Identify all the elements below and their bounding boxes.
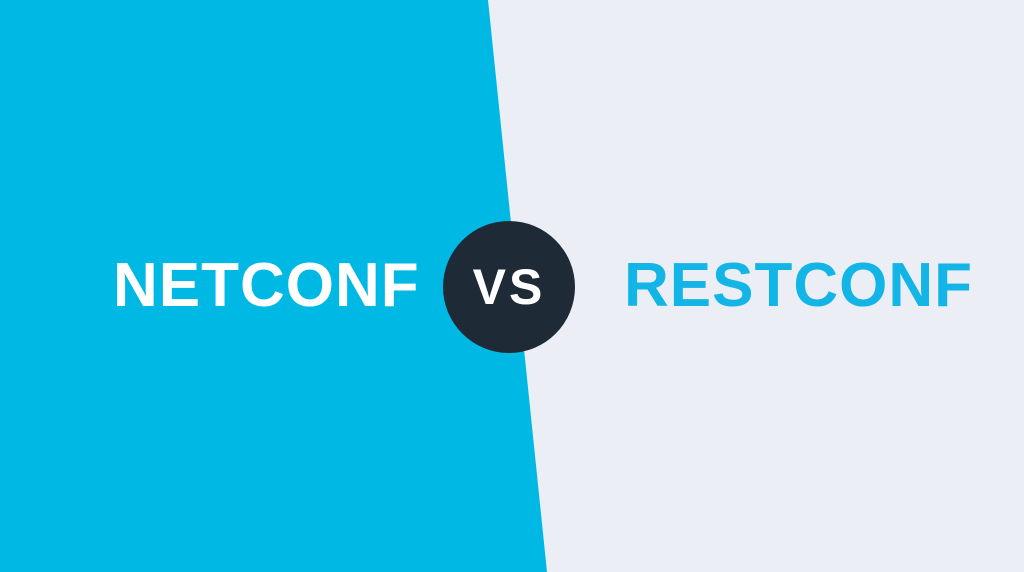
- right-term-label: RESTCONF: [624, 0, 973, 572]
- versus-badge-label: VS: [473, 262, 546, 312]
- left-term-label: NETCONF: [113, 0, 420, 572]
- versus-badge: VS: [443, 221, 575, 353]
- versus-banner: NETCONF VS RESTCONF: [0, 0, 1024, 572]
